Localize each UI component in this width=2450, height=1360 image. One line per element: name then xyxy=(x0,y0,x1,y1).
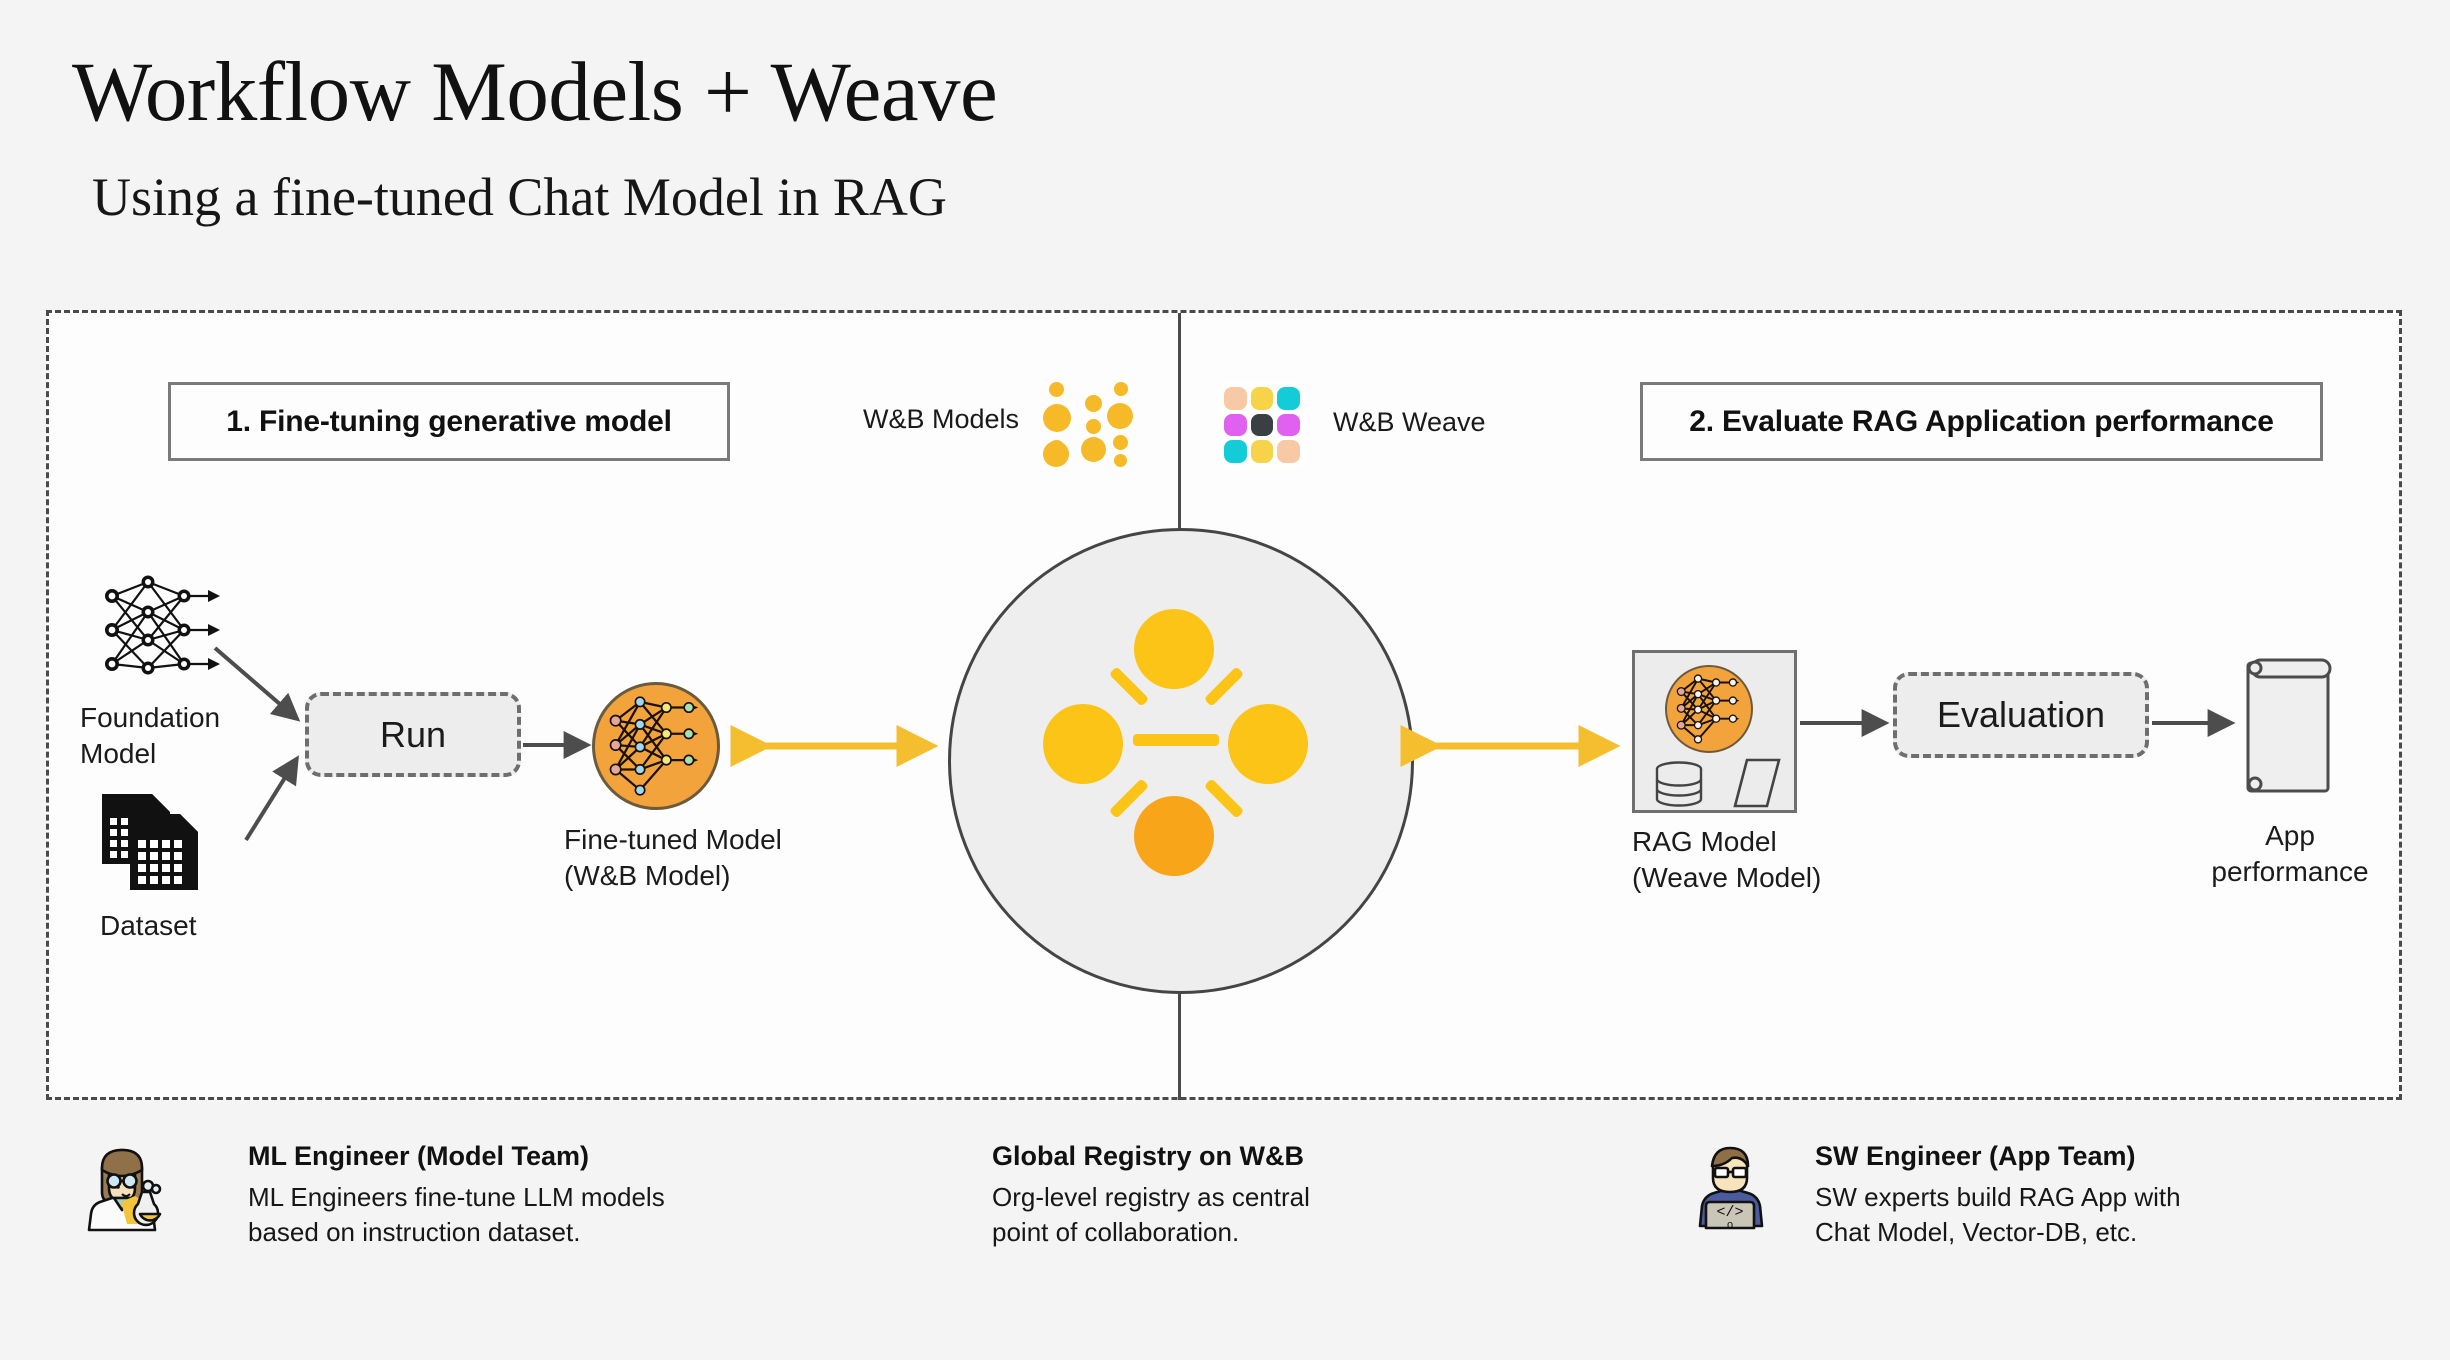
run-label: Run xyxy=(380,714,446,756)
wandb-weave-logo-icon xyxy=(1218,381,1306,469)
weave-tile-2 xyxy=(1277,387,1300,410)
registry-node-right xyxy=(1228,704,1308,784)
page-subtitle: Using a fine-tuned Chat Model in RAG xyxy=(92,168,947,227)
weave-tile-7 xyxy=(1251,440,1274,463)
weave-tile-8 xyxy=(1277,440,1300,463)
database-icon xyxy=(1651,761,1707,807)
orange-neural-network-icon xyxy=(595,685,717,807)
svg-text:</>: </> xyxy=(1716,1204,1743,1221)
wandb-weave-label: W&B Weave xyxy=(1333,407,1486,438)
document-icon xyxy=(1731,757,1783,809)
legend-sw-engineer-title: SW Engineer (App Team) xyxy=(1815,1141,2136,1172)
global-registry-node[interactable] xyxy=(948,528,1414,994)
dataset-documents-icon xyxy=(100,790,210,895)
rag-model-node[interactable] xyxy=(1632,650,1797,813)
legend-ml-engineer-desc: ML Engineers fine-tune LLM models based … xyxy=(248,1180,665,1249)
step-2-label: 2. Evaluate RAG Application performance xyxy=(1689,405,2274,439)
legend-ml-engineer-title: ML Engineer (Model Team) xyxy=(248,1141,589,1172)
registry-node-left xyxy=(1043,704,1123,784)
weave-tile-1 xyxy=(1251,387,1274,410)
legend-global-registry-desc: Org-level registry as central point of c… xyxy=(992,1180,1310,1249)
neural-network-icon xyxy=(96,570,226,690)
weave-tile-4 xyxy=(1251,414,1274,437)
fine-tuned-model-node[interactable] xyxy=(592,682,720,810)
fine-tuned-model-caption: Fine-tuned Model (W&B Model) xyxy=(564,822,864,894)
registry-link-top-right xyxy=(1204,666,1244,706)
legend-sw-engineer-desc: SW experts build RAG App with Chat Model… xyxy=(1815,1180,2181,1249)
wandb-models-logo-icon xyxy=(1043,378,1129,468)
rag-model-network-icon xyxy=(1665,665,1753,753)
foundation-model-caption: Foundation Model xyxy=(80,700,280,772)
evaluation-label: Evaluation xyxy=(1937,694,2105,736)
app-performance-caption: App performance xyxy=(2195,818,2385,890)
weave-tile-5 xyxy=(1277,414,1300,437)
legend-global-registry-title: Global Registry on W&B xyxy=(992,1141,1304,1172)
registry-link-bottom-right xyxy=(1204,778,1244,818)
registry-node-bottom xyxy=(1134,796,1214,876)
slide-canvas: Workflow Models + Weave Using a fine-tun… xyxy=(0,0,2450,1360)
scroll-icon xyxy=(2238,655,2336,800)
run-node[interactable]: Run xyxy=(305,692,521,777)
man-technologist-avatar: </> o xyxy=(1684,1140,1776,1232)
step-1-label: 1. Fine-tuning generative model xyxy=(226,405,672,439)
weave-tile-3 xyxy=(1224,414,1247,437)
rag-model-caption: RAG Model (Weave Model) xyxy=(1632,824,1952,896)
weave-tile-6 xyxy=(1224,440,1247,463)
woman-scientist-avatar xyxy=(80,1140,172,1232)
weave-tile-0 xyxy=(1224,387,1247,410)
registry-node-top xyxy=(1134,609,1214,689)
evaluation-node[interactable]: Evaluation xyxy=(1893,672,2149,758)
dataset-caption: Dataset xyxy=(100,908,300,944)
step-2-header: 2. Evaluate RAG Application performance xyxy=(1640,382,2323,461)
wandb-models-label: W&B Models xyxy=(863,404,1019,435)
page-title: Workflow Models + Weave xyxy=(72,48,997,137)
step-1-header: 1. Fine-tuning generative model xyxy=(168,382,730,461)
svg-text:o: o xyxy=(1727,1220,1734,1232)
registry-link-horizontal xyxy=(1133,734,1219,746)
